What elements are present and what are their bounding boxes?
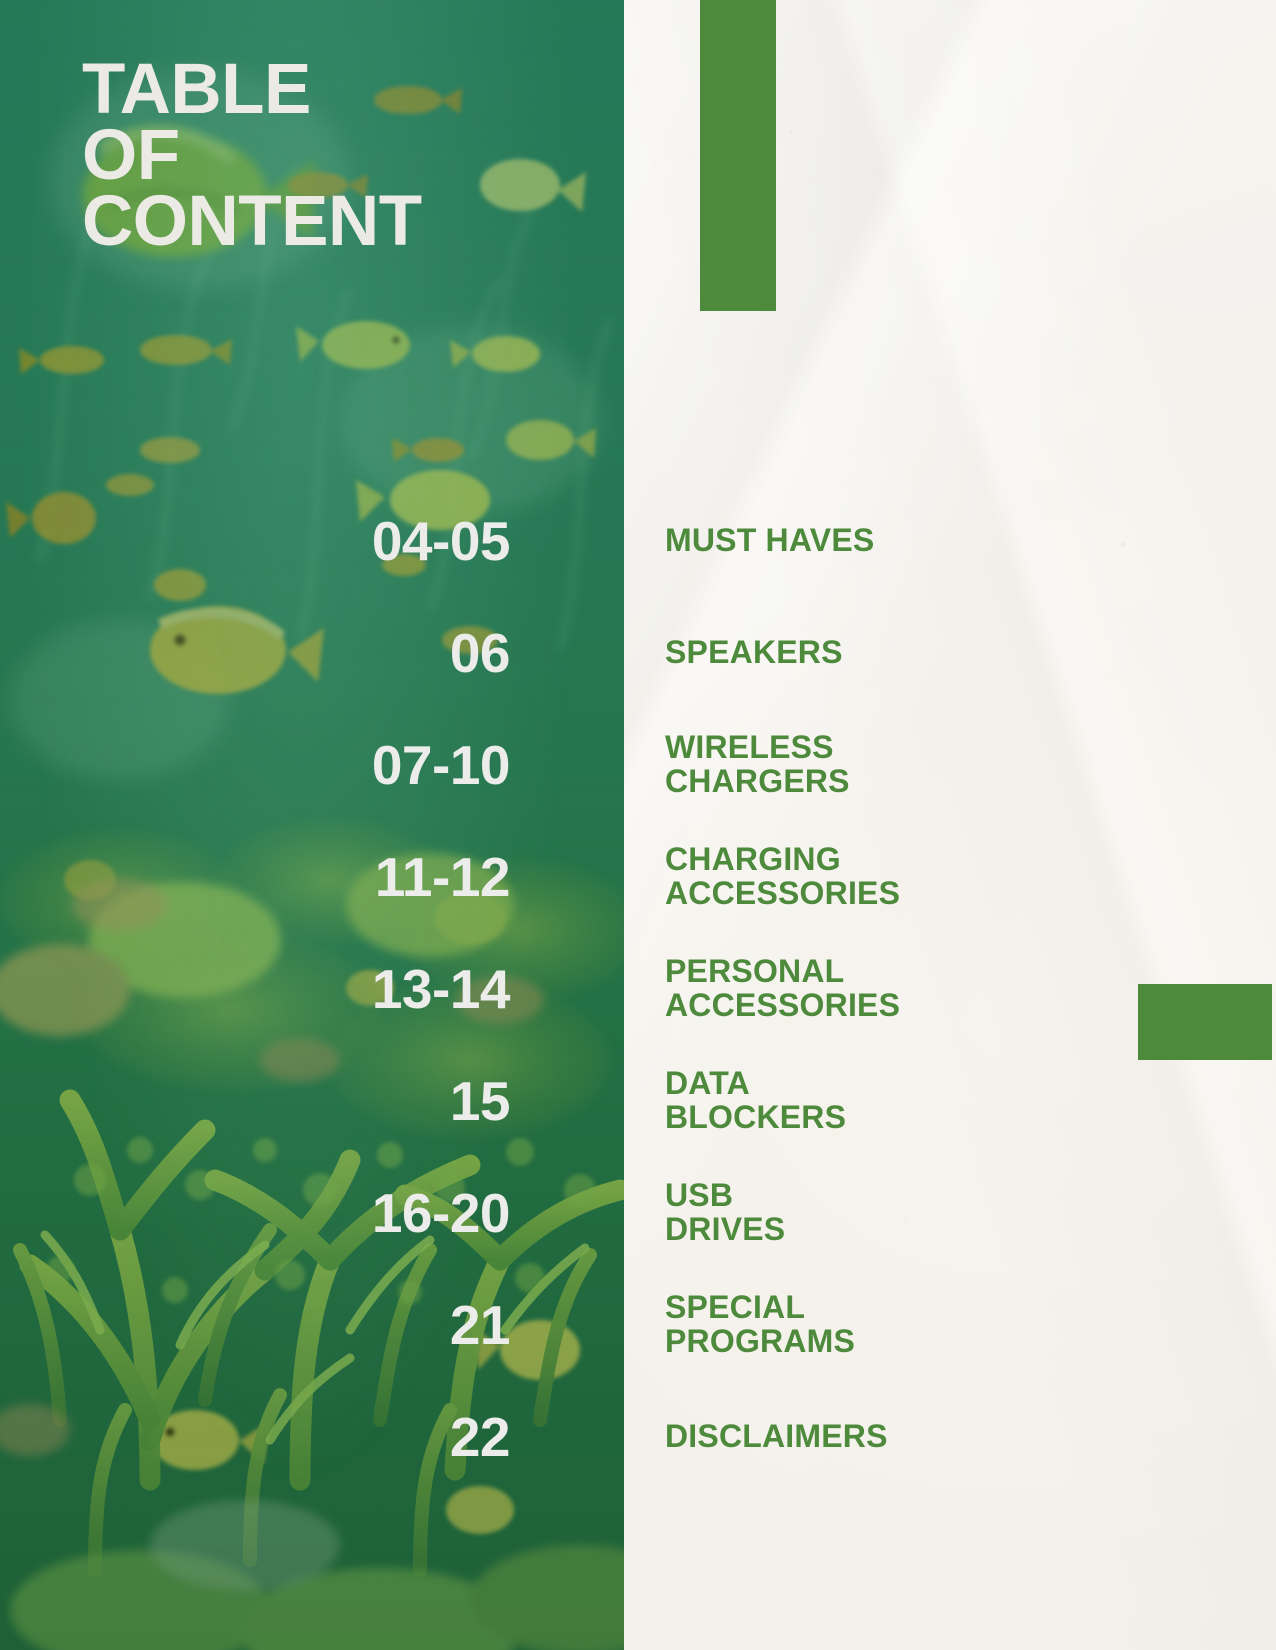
- toc-page-number: 13-14: [0, 962, 510, 1017]
- toc-section-label: CHARGING ACCESSORIES: [665, 843, 900, 911]
- toc-entry[interactable]: 13-14 PERSONAL ACCESSORIES: [0, 933, 1276, 1045]
- toc-entry[interactable]: 15 DATA BLOCKERS: [0, 1045, 1276, 1157]
- table-of-contents-list: 04-05 MUST HAVES 06 SPEAKERS 07-10 WIREL…: [0, 485, 1276, 1493]
- toc-entry[interactable]: 22 DISCLAIMERS: [0, 1381, 1276, 1493]
- toc-page-number: 15: [0, 1074, 510, 1129]
- toc-section-label: PERSONAL ACCESSORIES: [665, 955, 900, 1023]
- page-title-line-3: CONTENT: [82, 189, 602, 255]
- page-title: TABLE OF CONTENT: [82, 57, 602, 255]
- toc-entry[interactable]: 16-20 USB DRIVES: [0, 1157, 1276, 1269]
- toc-section-label: SPECIAL PROGRAMS: [665, 1291, 855, 1359]
- toc-entry[interactable]: 07-10 WIRELESS CHARGERS: [0, 709, 1276, 821]
- toc-entry[interactable]: 06 SPEAKERS: [0, 597, 1276, 709]
- green-accent-bar: [700, 0, 776, 311]
- page-title-line-1: TABLE: [82, 57, 602, 123]
- toc-page-number: 04-05: [0, 514, 510, 569]
- toc-page-number: 07-10: [0, 738, 510, 793]
- toc-section-label: DISCLAIMERS: [665, 1420, 888, 1454]
- toc-section-label: SPEAKERS: [665, 636, 843, 670]
- toc-section-label: USB DRIVES: [665, 1179, 785, 1247]
- toc-entry[interactable]: 04-05 MUST HAVES: [0, 485, 1276, 597]
- toc-page-number: 11-12: [0, 850, 510, 905]
- table-of-contents-page: TABLE OF CONTENT 04-05 MUST HAVES 06 SPE…: [0, 0, 1276, 1650]
- toc-entry[interactable]: 11-12 CHARGING ACCESSORIES: [0, 821, 1276, 933]
- toc-section-label: DATA BLOCKERS: [665, 1067, 846, 1135]
- toc-page-number: 22: [0, 1410, 510, 1465]
- toc-section-label: WIRELESS CHARGERS: [665, 731, 850, 799]
- toc-page-number: 06: [0, 626, 510, 681]
- page-title-line-2: OF: [82, 123, 602, 189]
- toc-entry[interactable]: 21 SPECIAL PROGRAMS: [0, 1269, 1276, 1381]
- toc-section-label: MUST HAVES: [665, 524, 874, 558]
- toc-page-number: 16-20: [0, 1186, 510, 1241]
- toc-page-number: 21: [0, 1298, 510, 1353]
